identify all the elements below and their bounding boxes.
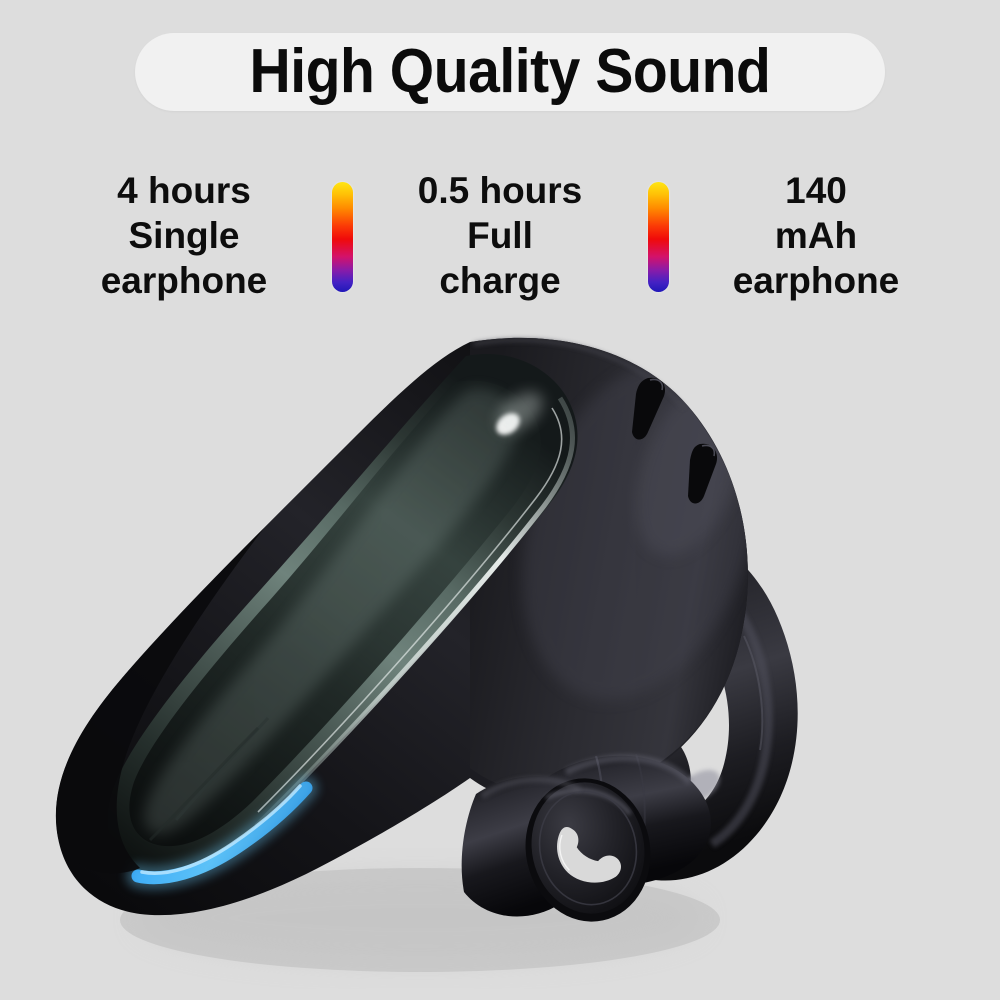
stat-block-battery-life: 4 hours Single earphone	[59, 160, 309, 303]
product-image	[0, 320, 1000, 1000]
stat-label-line2: Single	[59, 213, 309, 258]
stat-label-line3: earphone	[59, 258, 309, 303]
page-title: High Quality Sound	[165, 33, 855, 111]
stat-label-line3: earphone	[691, 258, 941, 303]
stat-value: 4 hours	[59, 168, 309, 213]
gradient-bar-icon	[332, 182, 353, 292]
stat-label-line3: charge	[375, 258, 625, 303]
stat-block-capacity: 140 mAh earphone	[691, 160, 941, 303]
gradient-bar-icon	[648, 182, 669, 292]
product-banner: High Quality Sound 4 hours Single earpho…	[0, 0, 1000, 1000]
stat-divider-2	[625, 160, 691, 292]
stat-value: 140	[691, 168, 941, 213]
stat-block-charge-time: 0.5 hours Full charge	[375, 160, 625, 303]
spec-stats-row: 4 hours Single earphone 0.5 hours Full c…	[0, 160, 1000, 310]
stat-divider-1	[309, 160, 375, 292]
stat-label-line2: mAh	[691, 213, 941, 258]
stat-label-line2: Full	[375, 213, 625, 258]
title-pill: High Quality Sound	[135, 33, 885, 111]
stat-value: 0.5 hours	[375, 168, 625, 213]
